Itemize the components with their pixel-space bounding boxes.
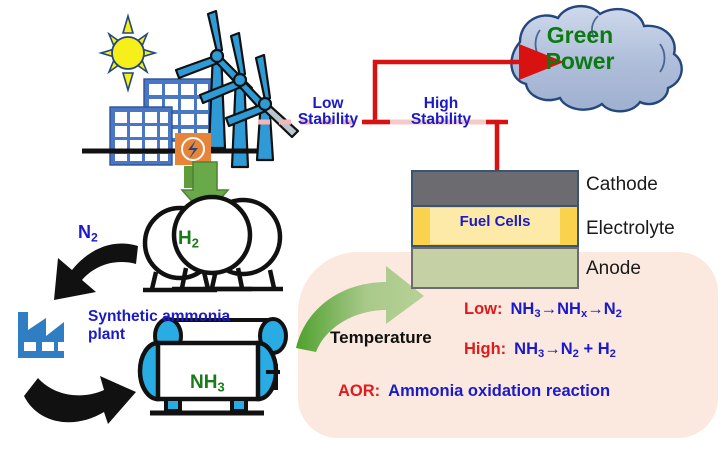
low-stability-label: Low Stability	[288, 96, 368, 128]
black-arrow-icon	[24, 376, 136, 424]
temperature-label: Temperature	[330, 328, 432, 348]
high-stability-line2: Stability	[398, 112, 484, 128]
cathode-label: Cathode	[586, 174, 658, 196]
green-power-line1: Green	[520, 22, 640, 48]
high-stability-label: High Stability	[398, 96, 484, 128]
green-power-line2: Power	[520, 48, 640, 74]
reaction-equation-high: NH3→N2 + H2	[514, 340, 616, 358]
fuel-cells-label: Fuel Cells	[412, 213, 578, 230]
low-stability-line1: Low	[288, 96, 368, 112]
green-power-label: Green Power	[520, 22, 640, 74]
anode-label: Anode	[586, 258, 641, 280]
aor-acronym: AOR:	[338, 382, 380, 400]
low-stability-line2: Stability	[288, 112, 368, 128]
synthetic-ammonia-plant-label: Synthetic ammonia plant	[88, 308, 253, 344]
gas-tank-icon	[143, 197, 283, 290]
hydrogen-label: H2	[178, 228, 199, 251]
ammonia-label: NH3	[190, 372, 225, 395]
figure-canvas: Low Stability High Stability Green Power…	[0, 0, 726, 450]
reaction-row-high: High:NH3→N2 + H2	[464, 340, 616, 360]
nitrogen-label: N2	[78, 222, 98, 244]
black-curved-arrow-icon	[54, 243, 138, 300]
transformer-icon	[175, 133, 211, 165]
high-stability-line1: High	[398, 96, 484, 112]
aor-definition: AOR:Ammonia oxidation reaction	[338, 382, 610, 401]
reaction-row-low: Low:NH3→NHx→N2	[464, 300, 622, 320]
reaction-condition-high: High:	[464, 340, 506, 358]
electrolyte-label: Electrolyte	[586, 218, 675, 240]
factory-icon	[18, 312, 66, 358]
reaction-equation-low: NH3→NHx→N2	[511, 300, 622, 318]
reaction-condition-low: Low:	[464, 300, 503, 318]
aor-expansion: Ammonia oxidation reaction	[388, 382, 610, 400]
